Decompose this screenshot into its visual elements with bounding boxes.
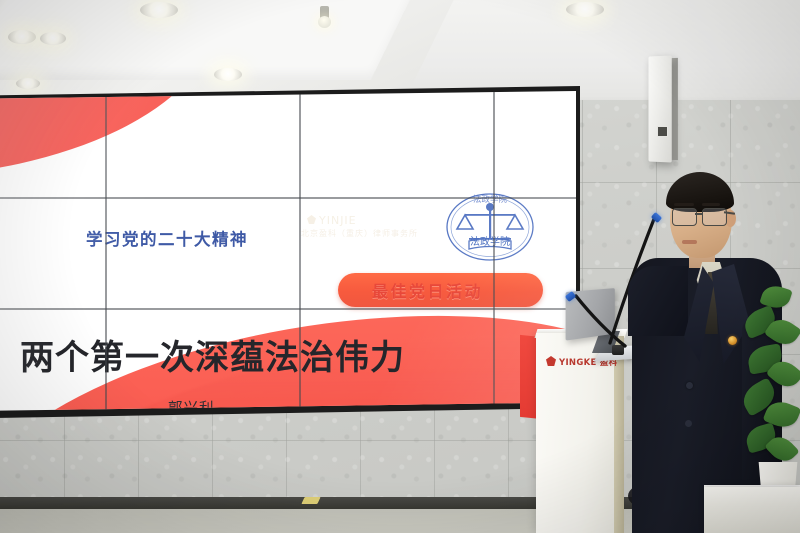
wall-speaker [648,55,671,162]
ceiling-downlight-3 [140,2,178,18]
speaker-eyebrow-right [702,203,720,206]
video-wall[interactable]: YINJIE 北京盈科（重庆）律师事务所 法 [0,86,580,418]
scales-of-justice-icon: 法政学院 法政学院 [435,191,545,263]
speaker-mouth [682,240,697,244]
eyeglass-bridge [695,213,702,215]
svg-text:法政学院: 法政学院 [470,235,510,248]
floor-marker [301,497,320,504]
university-seal: 法政学院 法政学院 [435,191,545,263]
panel-seam-h2 [0,308,576,310]
speaker-hair [666,172,734,212]
slide-badge: 最佳党日活动 [338,273,543,307]
slide-badge-label: 最佳党日活动 [372,278,483,302]
white-table [704,487,800,533]
watermark-line-1: YINJIE [319,214,357,227]
svg-text:法政学院: 法政学院 [473,194,508,205]
speaker-jacket-button-2 [685,420,692,427]
wall-speaker-port-icon [657,126,668,137]
slide-subtitle: 学习党的二十大精神 [86,226,248,250]
ceiling-downlight-4 [566,2,604,17]
ceiling-downlight-5 [214,68,242,81]
eyeglass-lens-left [672,208,697,226]
speaker-eyeglasses-icon [670,208,732,226]
sprinkler-head-icon [320,6,329,19]
slide-red-swoosh-top-left [0,90,225,188]
slide-title: 两个第一次深蕴法治伟力 [20,330,405,379]
screenshot-root: YINJIE 北京盈科（重庆）律师事务所 法 [0,0,800,533]
watermark-leaf-icon [307,215,316,224]
speaker-jacket-button-1 [686,382,693,389]
speaker-eyebrow-left [674,203,694,206]
ceiling-downlight-1 [8,30,36,44]
slide-canvas: YINJIE 北京盈科（重庆）律师事务所 法 [0,90,576,412]
speaker-lapel-pin-icon [728,336,737,345]
ceiling-downlight-2 [40,32,66,45]
speaker-left-shoulder [628,266,688,336]
watermark-line-2: 北京盈科（重庆）律师事务所 [301,228,418,239]
podium-logo-mark-icon [546,356,556,366]
presentation-slide[interactable]: YINJIE 北京盈科（重庆）律师事务所 法 [0,90,576,412]
slide-watermark: YINJIE 北京盈科（重庆）律师事务所 [301,214,429,248]
